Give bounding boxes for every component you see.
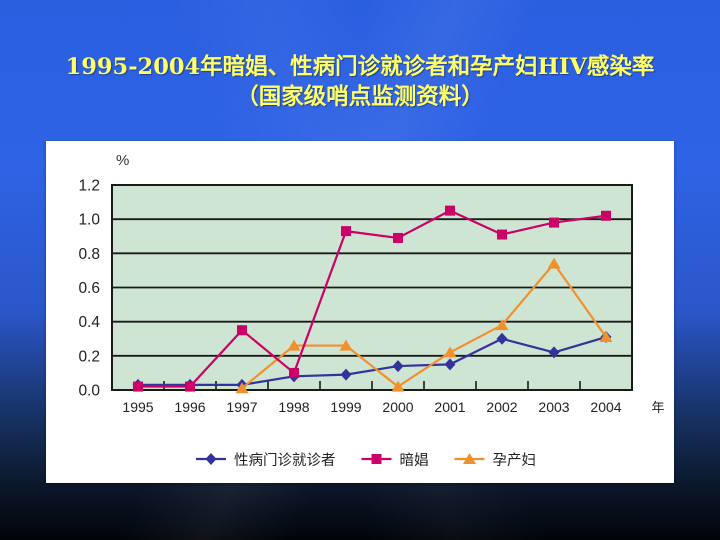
y-axis-tick-label: 0.6 [78, 280, 100, 297]
data-point-marker [237, 325, 247, 335]
y-axis-tick-label: 0.8 [78, 246, 100, 263]
y-axis-tick-label: 1.0 [78, 212, 100, 229]
x-axis-tick-label: 1997 [226, 399, 257, 415]
data-point-marker [185, 382, 195, 392]
data-point-marker [289, 368, 299, 378]
slide-title-line-1: 1995-2004年暗娼、性病门诊就诊者和孕产妇HIV感染率 [66, 54, 655, 80]
data-point-marker [549, 218, 559, 228]
chart-panel: %0.00.20.40.60.81.01.2199519961997199819… [46, 141, 674, 483]
x-axis-tick-label: 1999 [330, 399, 361, 415]
slide-title-line-2: （国家级哨点监测资料） [0, 82, 720, 112]
legend-item[interactable]: 暗娼 [362, 452, 429, 469]
y-axis-tick-label: 0.4 [78, 314, 100, 331]
x-axis-tick-label: 1995 [122, 399, 153, 415]
data-point-marker [133, 382, 143, 392]
chart-plot-area: %0.00.20.40.60.81.01.2199519961997199819… [46, 141, 674, 483]
x-axis-tick-label: 2002 [486, 399, 517, 415]
x-axis-name: 年 [651, 401, 664, 416]
data-point-marker [601, 211, 611, 221]
y-axis-tick-label: 1.2 [78, 178, 100, 195]
x-axis-tick-label: 2001 [434, 399, 465, 415]
x-axis-tick-label: 2003 [538, 399, 569, 415]
y-axis-tick-label: 0.0 [78, 383, 100, 400]
legend-label: 暗娼 [400, 452, 429, 469]
legend-item[interactable]: 孕产妇 [455, 452, 537, 469]
x-axis-tick-label: 2000 [382, 399, 413, 415]
y-axis-unit-label: % [116, 152, 129, 169]
legend-label: 孕产妇 [493, 452, 537, 469]
legend-item[interactable]: 性病门诊就诊者 [196, 452, 336, 469]
x-axis-tick-label: 2004 [590, 399, 621, 415]
line-chart: %0.00.20.40.60.81.01.2199519961997199819… [46, 141, 674, 483]
data-point-marker [206, 453, 217, 465]
x-axis-tick-label: 1996 [174, 399, 205, 415]
data-point-marker [445, 206, 455, 216]
legend-label: 性病门诊就诊者 [234, 452, 336, 469]
data-point-marker [372, 454, 382, 464]
data-point-marker [497, 230, 507, 240]
data-point-marker [341, 226, 351, 236]
data-point-marker [393, 233, 403, 243]
slide: 1995-2004年暗娼、性病门诊就诊者和孕产妇HIV感染率 （国家级哨点监测资… [0, 0, 720, 540]
slide-title: 1995-2004年暗娼、性病门诊就诊者和孕产妇HIV感染率 （国家级哨点监测资… [0, 52, 720, 112]
y-axis-tick-label: 0.2 [78, 348, 100, 365]
x-axis-tick-label: 1998 [278, 399, 309, 415]
